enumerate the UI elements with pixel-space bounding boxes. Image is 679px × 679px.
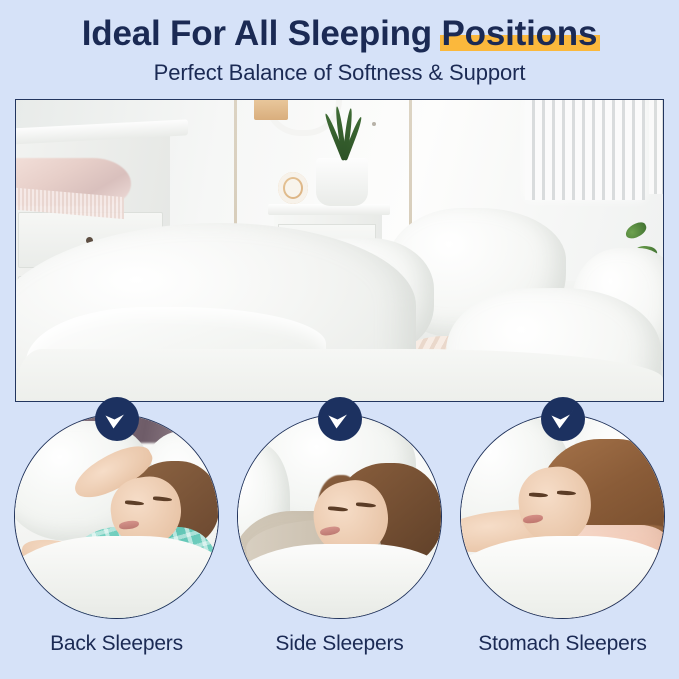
check-badge [318, 397, 362, 441]
photo-back-sleeper [14, 414, 219, 619]
plant-pot [316, 158, 368, 206]
hero-image [15, 99, 664, 402]
page-title: Ideal For All Sleeping Positions [0, 14, 679, 53]
card-caption: Stomach Sleepers [478, 632, 646, 656]
window-blinds [525, 99, 645, 200]
header: Ideal For All Sleeping Positions Perfect… [0, 0, 679, 86]
sleeping-positions-row: Back Sleepers [0, 414, 679, 656]
card-back-sleepers[interactable]: Back Sleepers [14, 414, 219, 656]
check-icon [327, 407, 353, 431]
plant-foliage [316, 108, 368, 160]
hero-scene [16, 100, 663, 401]
bed-sheet [460, 536, 665, 619]
card-stomach-sleepers[interactable]: Stomach Sleepers [460, 414, 665, 656]
circle-wrap [237, 414, 442, 619]
circle-wrap [14, 414, 219, 619]
photo-side-sleeper [237, 414, 442, 619]
blanket [237, 544, 442, 619]
check-icon [550, 407, 576, 431]
photo-stomach-sleeper [460, 414, 665, 619]
check-badge [541, 397, 585, 441]
bed-sheet [16, 349, 663, 402]
picture-frame [254, 99, 288, 120]
window-blinds-edge [649, 99, 663, 194]
check-badge [95, 397, 139, 441]
bed-sheet [14, 536, 219, 619]
page-title-highlight: Positions [442, 14, 598, 53]
plant-leaf [623, 220, 648, 241]
clock-face [285, 179, 301, 197]
wall-dot [372, 122, 376, 126]
card-side-sleepers[interactable]: Side Sleepers [237, 414, 442, 656]
page-title-text: Ideal For All Sleeping [82, 14, 442, 53]
check-icon [104, 407, 130, 431]
circle-wrap [460, 414, 665, 619]
page-subtitle: Perfect Balance of Softness & Support [0, 60, 679, 86]
card-caption: Side Sleepers [275, 632, 403, 656]
card-caption: Back Sleepers [50, 632, 183, 656]
